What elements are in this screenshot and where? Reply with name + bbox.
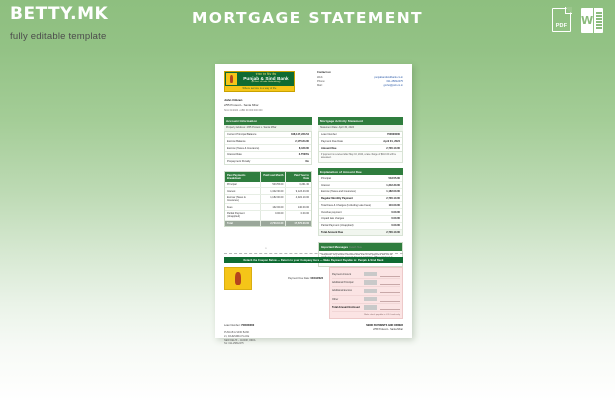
activity-list: Loan Number700000000 Payment Due DateApr… [318, 132, 403, 152]
coupon-logo-icon [224, 267, 252, 290]
coupon-loan-value: 700000000 [241, 324, 254, 327]
format-icons: PDF W [552, 8, 603, 34]
contact-value: gmho@psb.co.in [383, 84, 403, 88]
amount-input[interactable] [364, 280, 377, 284]
table-row: Principal543.55.003,261.30 [225, 182, 311, 189]
screenshot-root: BETTY.MK fully editable template MORTGAG… [0, 0, 615, 400]
coupon-box-note: Make check payable in U.S. funds only [332, 314, 400, 316]
row-label: Interest Rate [227, 153, 242, 156]
row-value: 2,175.84.00 [295, 140, 309, 143]
coupon-account-block: Loan Number: 700000000 PUNJAB & SIND BAN… [224, 324, 255, 347]
account-info-row: Current Principal Balance348,147,233.54 [225, 132, 311, 139]
word-file-icon[interactable]: W [581, 8, 603, 34]
table-total-row: Total2,700.10.0017,570.00.00 [225, 221, 311, 227]
account-info-list: Current Principal Balance348,147,233.54 … [224, 132, 312, 166]
coupon-loan-label: Loan Number: [224, 324, 240, 327]
bank-slogan: Where service is a way of life [225, 86, 294, 91]
page-title: MORTGAGE STATEMENT [0, 9, 615, 27]
coupon-amount-row: Other [332, 296, 400, 304]
document-page[interactable]: पंजाब एंड सिंध बैंक Punjab & Sind Bank (… [215, 64, 412, 338]
activity-row: Payment Due DateApril 01, 2024 [319, 138, 402, 145]
amount-input[interactable] [364, 297, 377, 301]
row-label: Escrow Balance [227, 140, 246, 143]
payment-coupon: Detach the Coupon Below — Return to your… [224, 257, 403, 346]
row-label: Loan Number [321, 133, 337, 136]
row-value: No [306, 160, 309, 163]
row-value: 8,430.00 [299, 147, 309, 150]
row-value: 2,700.10.00 [386, 147, 400, 150]
coupon-bar: Detach the Coupon Below — Return to your… [224, 257, 403, 263]
coupon-amount-row: Payment Amount [332, 270, 400, 278]
contact-row: Mail:gmho@psb.co.in [317, 84, 403, 88]
activity-row: Amount Due2,700.10.00 [319, 145, 402, 151]
amount-input[interactable] [364, 272, 377, 276]
explanation-list: Principal543.55.00 Interest1,342.30.00 E… [318, 175, 403, 236]
account-section-subtitle: Property Address: 2/55 Protest L. Santa … [224, 125, 312, 132]
explanation-row: Regular Monthly Payment2,700.10.00 [319, 196, 402, 203]
activity-section-subtitle: Statement Date: April 30, 2024 [318, 125, 403, 132]
contact-heading: Contact us: [317, 71, 403, 75]
coupon-amount-row: Additional Escrow [332, 287, 400, 295]
row-label: Current Principal Balance [227, 133, 256, 136]
explanation-row: Escrow (Taxes and Insurance)1,182.00.00 [319, 189, 402, 196]
scissors-icon: ✂ [265, 247, 267, 250]
table-row: Partial Payment (Unapplied)0.00.000.00.0… [225, 211, 311, 221]
pdf-file-icon[interactable]: PDF [552, 8, 574, 34]
contact-label: Mail: [317, 84, 322, 88]
table-row: Fees132.00.00140.00.00 [225, 204, 311, 211]
customer-block: John Citizen 2/55 Protest L. Santa Mhar … [224, 98, 308, 112]
row-label: Prepayment Penalty [227, 160, 250, 163]
past-payments-table: Past Payments Breakdown Paid Last Month … [224, 171, 312, 227]
coupon-remit-title: SEND PAYMENTS AND ORDER [366, 324, 403, 327]
activity-section-title: Mortgage Activity Statement [318, 117, 403, 124]
coupon-due-label: Payment Due Date: [288, 277, 310, 280]
coupon-remit-block: SEND PAYMENTS AND ORDER 2/55 Protest L. … [366, 324, 403, 347]
bank-logo: पंजाब एंड सिंध बैंक Punjab & Sind Bank (… [224, 71, 295, 92]
column-header: Paid Year to Date [285, 172, 311, 181]
column-header: Paid Last Month [260, 172, 286, 181]
document-header: पंजाब एंड सिंध बैंक Punjab & Sind Bank (… [224, 71, 403, 92]
explanation-row: Interest1,342.30.00 [319, 182, 402, 189]
tear-labels: ✂ Detach Here [224, 247, 403, 250]
table-row: Interest1,342.30.009,123.43.00 [225, 188, 311, 195]
customer-address: 2/55 Protest L. Santa Mhar [224, 103, 259, 107]
word-icon-lines [594, 8, 603, 33]
customer-name: John Citizen [224, 98, 242, 102]
row-value: 3.7500% [299, 153, 309, 156]
activity-note: If payment is received after May 16, 202… [318, 152, 403, 163]
explanation-row: Principal543.55.00 [319, 175, 402, 182]
table-header: Past Payments Breakdown Paid Last Month … [225, 172, 311, 181]
account-info-row: Escrow Balance2,175.84.00 [225, 138, 311, 145]
word-icon-label: W [581, 8, 593, 33]
column-header: Past Payments Breakdown [225, 172, 260, 181]
explanation-row: Total Fees & Charges (Including Late Fee… [319, 202, 402, 209]
tear-line [224, 253, 403, 254]
row-label: Payment Due Date [321, 140, 343, 143]
coupon-amount-row: Additional Principal [332, 279, 400, 287]
coupon-due-date: Payment Due Date: 04/16/2024 [256, 277, 329, 280]
coupon-payee-address: PUNJAB & SIND BANK 21, RAJENDRA PLACE NE… [224, 331, 255, 346]
account-info-row: Escrow (Taxes & Insurance)8,430.00 [225, 145, 311, 152]
pdf-icon-label: PDF [553, 23, 570, 29]
explanation-section-title: Explanation of Amount Due [318, 168, 403, 175]
row-label: Escrow (Taxes & Insurance) [227, 147, 259, 150]
activity-row: Loan Number700000000 [319, 132, 402, 139]
row-value: 348,147,233.54 [291, 133, 309, 136]
table-row: Escrow (Taxes & Insurance)1,182.00.004,0… [225, 195, 311, 205]
coupon-amount-row: Total Amount Enclosed [332, 304, 400, 312]
row-label: Amount Due [321, 147, 336, 150]
account-info-row: Prepayment PenaltyNo [225, 159, 311, 165]
row-value: April 01, 2024 [383, 140, 400, 143]
amount-input[interactable] [364, 289, 377, 293]
explanation-row: Overdue payment0.00.00 [319, 209, 402, 216]
account-info-row: Interest Rate3.7500% [225, 152, 311, 159]
explanation-row: Unpaid late charges0.00.00 [319, 216, 402, 223]
explanation-row: Partial Payment (Unapplied)0.00.00 [319, 223, 402, 230]
bank-emblem-icon [226, 73, 237, 85]
coupon-remit-address: 2/55 Protest L. Santa Mhar [366, 328, 403, 332]
customer-meta: Stmt 01/2024 • ABN 00 000 000 000 [224, 109, 308, 113]
row-value: 700000000 [387, 133, 400, 136]
brand-tagline: fully editable template [10, 31, 108, 42]
detach-label: Detach Here [349, 247, 362, 250]
coupon-amount-box[interactable]: Payment Amount Additional Principal Addi… [329, 267, 403, 318]
account-section-title: Account Information [224, 117, 312, 124]
coupon-due-value: 04/16/2024 [310, 277, 323, 280]
contact-block: Contact us: Web:punjabandsindbank.co.in … [317, 71, 403, 88]
explanation-total-row: Total Amount Due2,700.10.00 [319, 230, 402, 236]
amount-input[interactable] [364, 305, 377, 309]
bank-subtitle: (A Govt. of India Undertaking) [239, 81, 293, 83]
